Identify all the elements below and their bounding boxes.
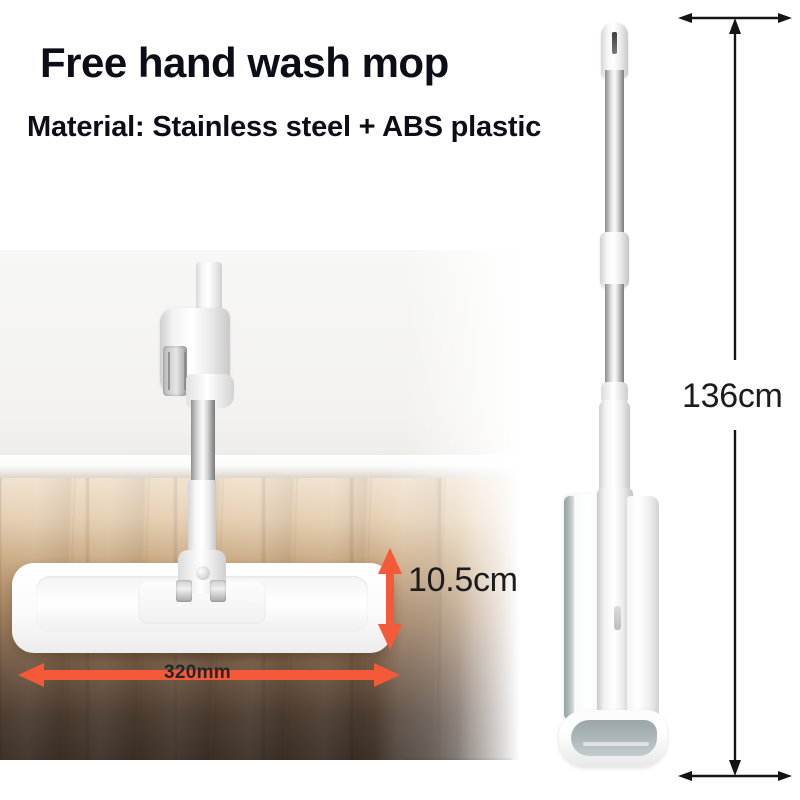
- foot-pad-insert: [571, 720, 657, 756]
- floor-plank: [398, 758, 513, 760]
- head-body-wing: [627, 496, 659, 720]
- pad-clip-left: [176, 580, 192, 602]
- handle-hang-slot: [612, 32, 617, 54]
- swivel-pin: [196, 566, 210, 580]
- wall-background: [0, 250, 520, 478]
- pole-collar-joint: [600, 232, 629, 288]
- foot-pad-highlight: [583, 742, 649, 746]
- squeeze-lever: [163, 346, 187, 396]
- body-notch-detail: [614, 606, 621, 630]
- baseboard-trim: [0, 455, 520, 479]
- material-subtitle: Material: Stainless steel + ABS plastic: [27, 111, 541, 144]
- microfiber-pad: [564, 496, 574, 720]
- pad-clip-right: [210, 580, 226, 602]
- thickness-dimension-label: 10.5cm: [408, 561, 518, 600]
- page-title: Free hand wash mop: [40, 39, 449, 87]
- thickness-dimension-arrow: [375, 548, 405, 650]
- width-dimension-label: 320mm: [164, 662, 231, 684]
- product-side-view: [545, 18, 675, 763]
- product-infographic: Free hand wash mop Material: Stainless s…: [0, 0, 800, 800]
- height-dimension-label: 136cm: [682, 377, 783, 416]
- pole-upper-section: [605, 70, 624, 238]
